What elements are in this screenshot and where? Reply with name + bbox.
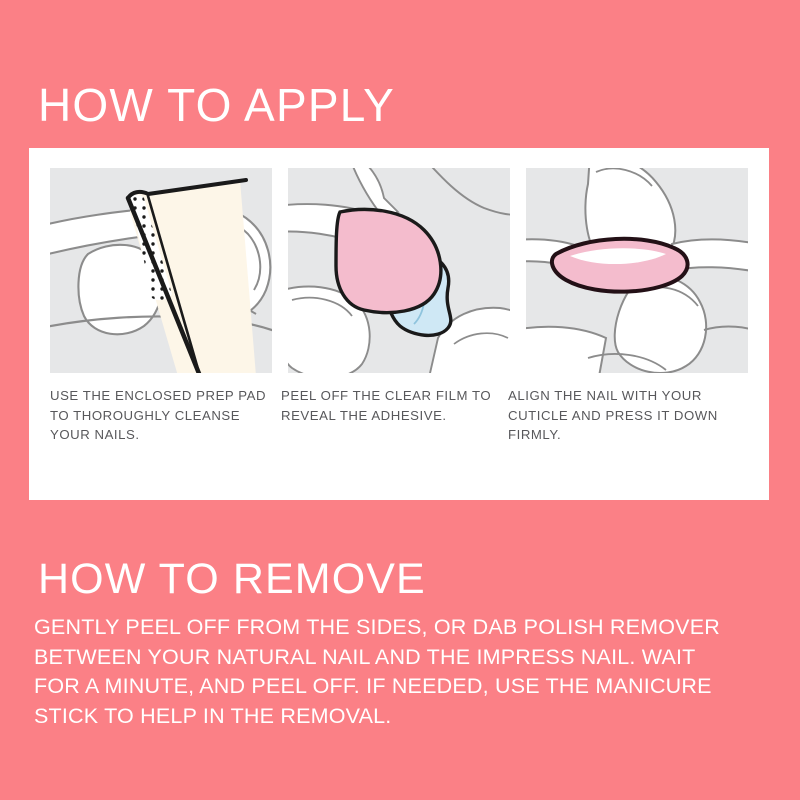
peel-clear-film-icon bbox=[288, 168, 510, 373]
step-captions: USE THE ENCLOSED PREP PAD TO THOROUGHLY … bbox=[50, 386, 748, 445]
step-1-caption: USE THE ENCLOSED PREP PAD TO THOROUGHLY … bbox=[50, 386, 278, 445]
illustration-panels bbox=[50, 168, 748, 373]
how-to-apply-card: USE THE ENCLOSED PREP PAD TO THOROUGHLY … bbox=[29, 148, 769, 500]
step-2-caption: PEEL OFF THE CLEAR FILM TO REVEAL THE AD… bbox=[281, 386, 505, 445]
hand-with-prep-pad-icon bbox=[50, 168, 272, 373]
step-3-caption: ALIGN THE NAIL WITH YOUR CUTICLE AND PRE… bbox=[508, 386, 748, 445]
step-2-illustration-panel bbox=[288, 168, 510, 373]
how-to-remove-body-text: GENTLY PEEL OFF FROM THE SIDES, OR DAB P… bbox=[34, 613, 746, 731]
how-to-apply-heading: HOW TO APPLY bbox=[38, 80, 395, 130]
align-nail-cuticle-icon bbox=[526, 168, 748, 373]
step-1-illustration-panel bbox=[50, 168, 272, 373]
how-to-remove-heading: HOW TO REMOVE bbox=[38, 556, 426, 603]
step-3-illustration-panel bbox=[526, 168, 748, 373]
